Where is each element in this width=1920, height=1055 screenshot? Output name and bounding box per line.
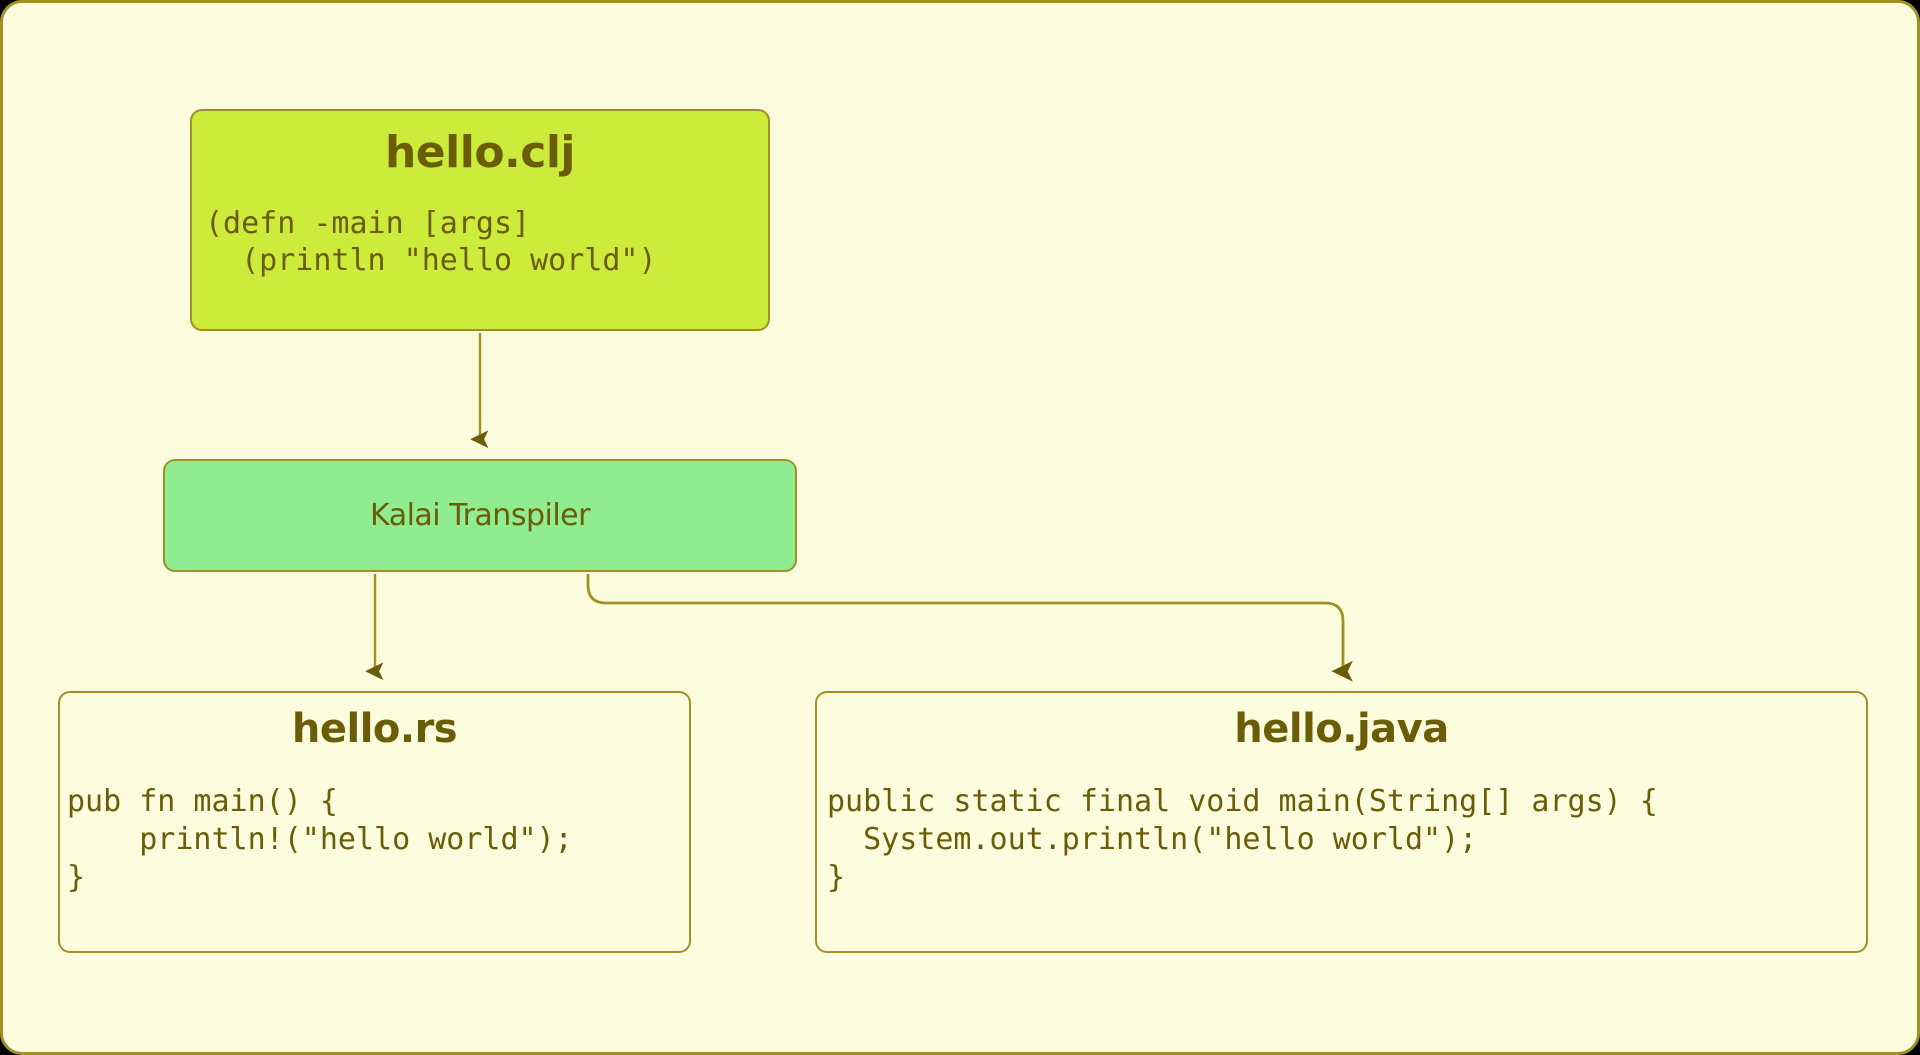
node-hello-java-code: public static final void main(String[] a… — [817, 749, 1866, 896]
node-hello-java[interactable]: hello.java public static final void main… — [815, 691, 1868, 953]
node-hello-clj-title: hello.clj — [192, 111, 768, 175]
node-hello-java-title: hello.java — [817, 693, 1866, 749]
node-kalai-transpiler[interactable]: Kalai Transpiler — [163, 459, 797, 572]
edge-kalai-to-java — [588, 574, 1343, 671]
node-kalai-transpiler-title: Kalai Transpiler — [370, 498, 590, 533]
node-hello-clj[interactable]: hello.clj (defn -main [args] (println "h… — [190, 109, 770, 331]
node-hello-clj-code: (defn -main [args] (println "hello world… — [192, 175, 768, 279]
node-hello-rs-code: pub fn main() { println!("hello world");… — [60, 749, 689, 896]
node-hello-rs[interactable]: hello.rs pub fn main() { println!("hello… — [58, 691, 691, 953]
node-hello-rs-title: hello.rs — [60, 693, 689, 749]
diagram-canvas: hello.clj (defn -main [args] (println "h… — [0, 0, 1920, 1055]
